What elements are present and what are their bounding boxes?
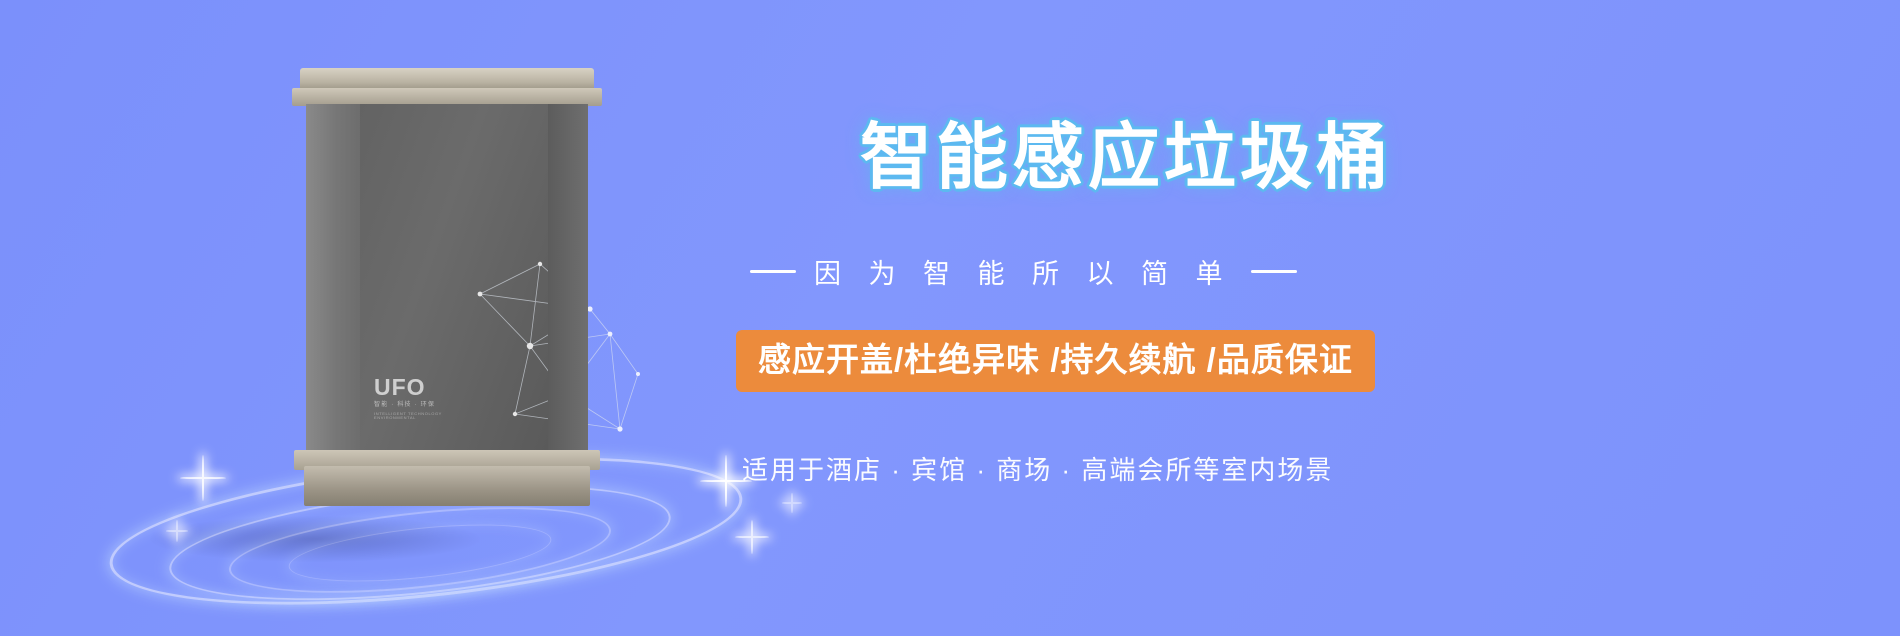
product-image-trash-bin: UFO 智能 · 科技 · 环保 INTELLIGENT TECHNOLOGY … — [292, 68, 602, 528]
bin-left-face — [306, 104, 360, 454]
marketing-copy: 智能感应垃圾桶 因 为 智 能 所 以 简 单 感应开盖/杜绝异味 /持久续航 … — [700, 0, 1900, 636]
sparkle-icon — [180, 455, 226, 501]
brand-subtitle-en: INTELLIGENT TECHNOLOGY ENVIRONMENTAL — [374, 412, 464, 420]
usage-scenario-text: 适用于酒店 · 宾馆 · 商场 · 高端会所等室内场景 — [742, 450, 1333, 487]
bin-base — [304, 466, 590, 506]
subtitle-line: 因 为 智 能 所 以 简 单 — [750, 252, 1297, 291]
brand-subtitle-cn: 智能 · 科技 · 环保 — [374, 402, 464, 408]
dash-left-icon — [750, 270, 796, 273]
brand-mark-text: UFO — [374, 376, 464, 399]
promo-banner: UFO 智能 · 科技 · 环保 INTELLIGENT TECHNOLOGY … — [0, 0, 1900, 636]
bin-right-face — [548, 104, 588, 454]
feature-badge: 感应开盖/杜绝异味 /持久续航 /品质保证 — [736, 330, 1375, 392]
dash-right-icon — [1251, 270, 1297, 273]
page-title: 智能感应垃圾桶 — [860, 122, 1392, 194]
subtitle-text: 因 为 智 能 所 以 简 单 — [814, 252, 1233, 291]
bin-front-panel: UFO 智能 · 科技 · 环保 INTELLIGENT TECHNOLOGY … — [360, 104, 548, 454]
bin-body: UFO 智能 · 科技 · 环保 INTELLIGENT TECHNOLOGY … — [306, 104, 588, 454]
product-brand-logo: UFO 智能 · 科技 · 环保 INTELLIGENT TECHNOLOGY … — [374, 376, 464, 420]
